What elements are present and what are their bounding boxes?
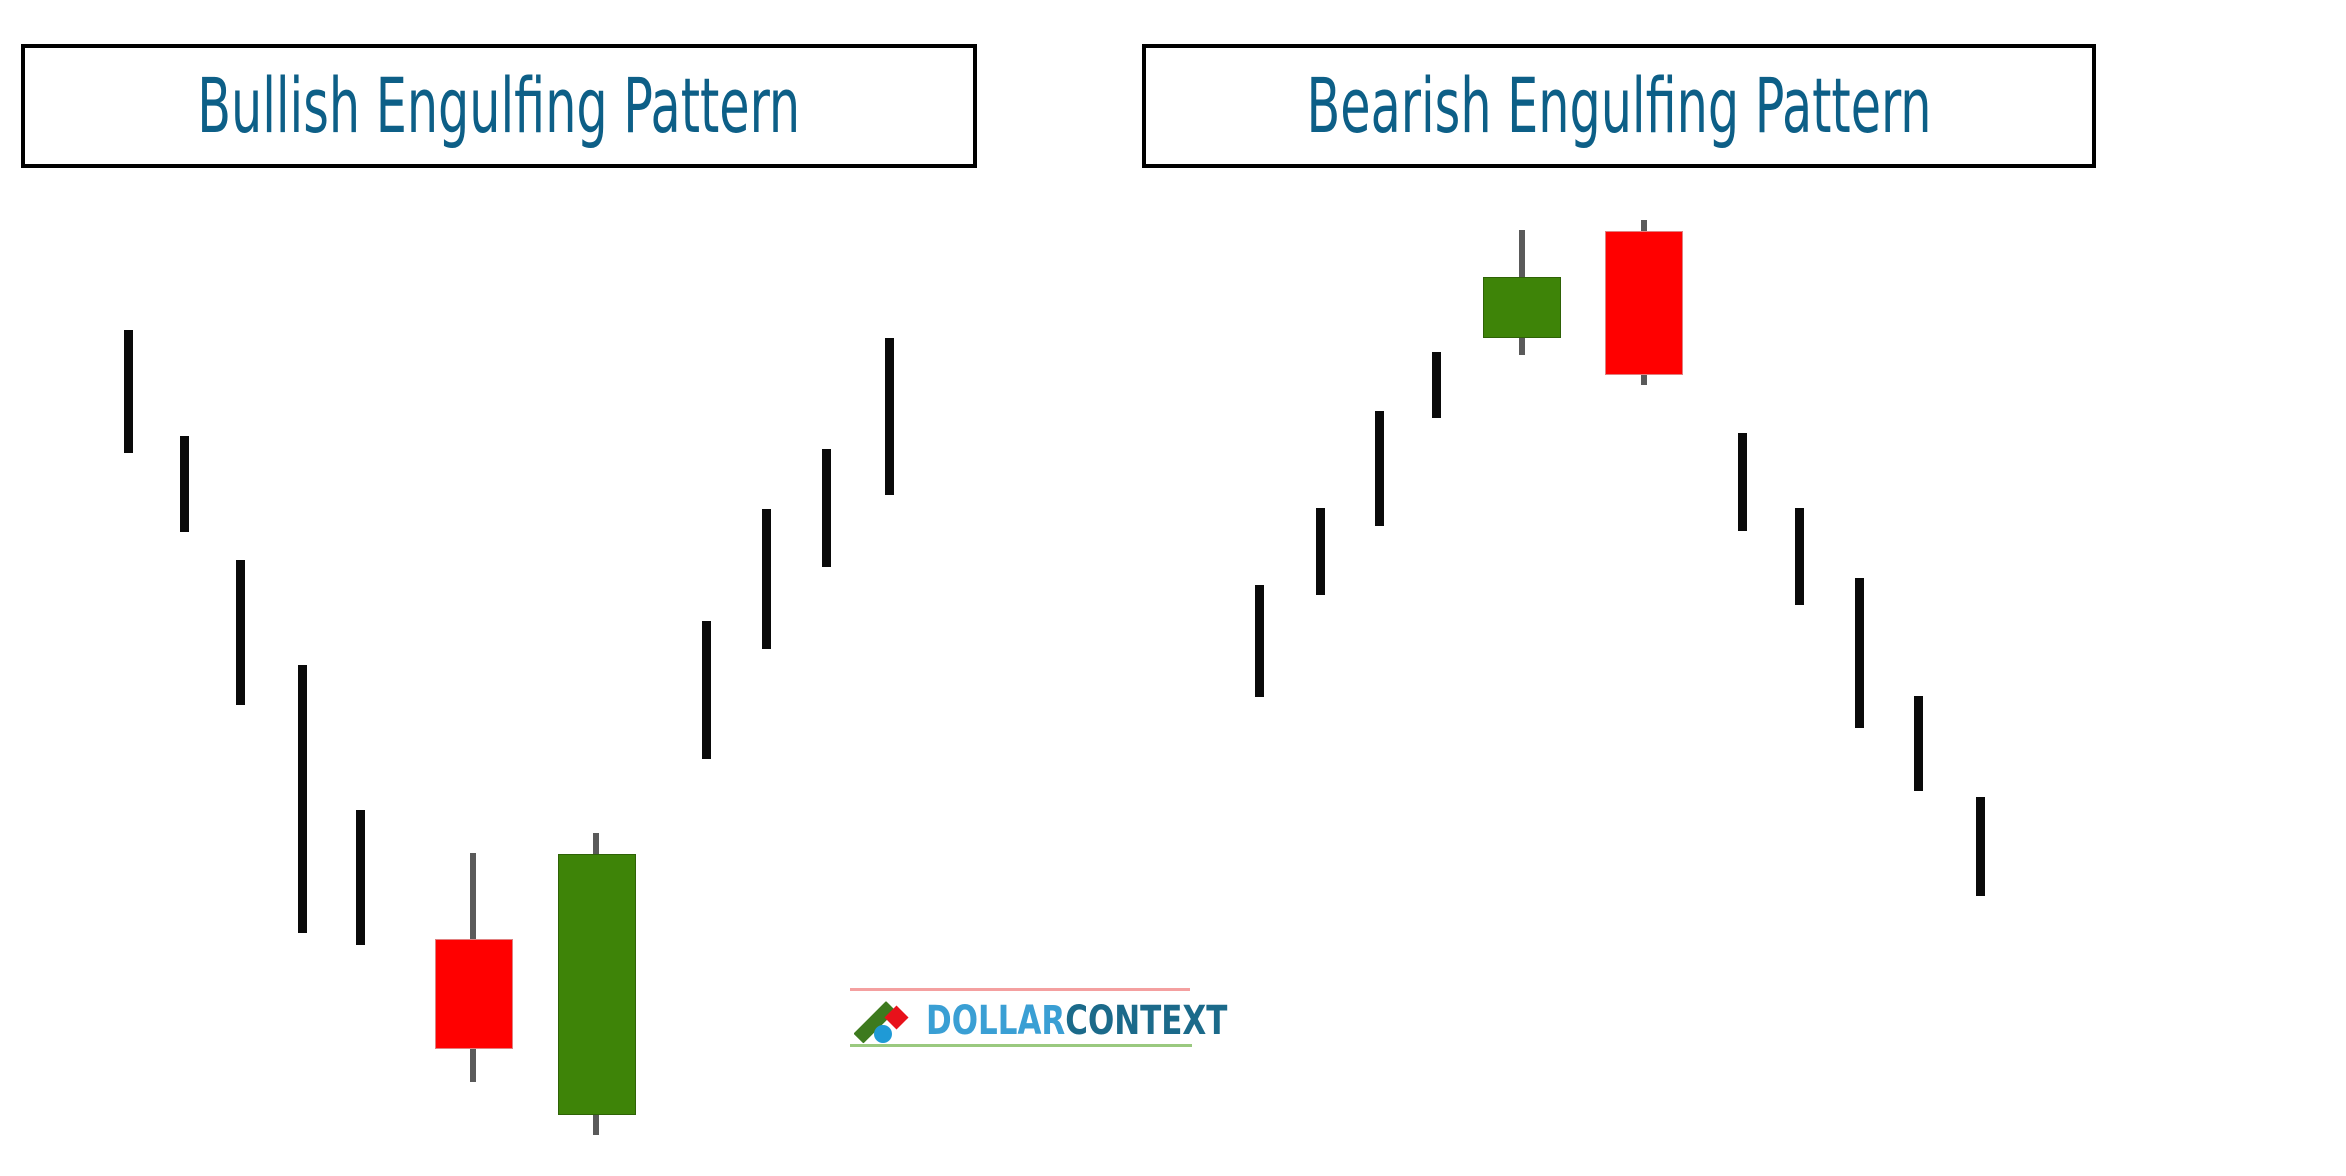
candle-body-bullish [1483,277,1561,338]
dollarcontext-watermark: DOLLARCONTEXT [848,988,1194,1050]
watermark-bottom-rule [850,1044,1192,1047]
candle-body-bearish [1605,231,1683,375]
watermark-word-dollar: DOLLAR [926,998,1065,1044]
watermark-word-context: CONTEXT [1065,998,1227,1044]
watermark-wordmark: DOLLARCONTEXT [926,998,1227,1044]
ohlc-range-bar [1976,797,1985,896]
ohlc-range-bar [1855,578,1864,728]
ohlc-range-bar [1316,508,1325,595]
ohlc-range-bar [1432,352,1441,418]
ohlc-range-bar [1795,508,1804,605]
dollarcontext-logo-icon [854,1000,912,1044]
ohlc-range-bar [1375,411,1384,526]
ohlc-range-bar [1914,696,1923,791]
watermark-top-rule [850,988,1190,991]
ohlc-range-bar [1255,585,1264,697]
ohlc-range-bar [1738,433,1747,531]
diagram-canvas: Bullish Engulfing Pattern Bearish Engulf… [0,0,2346,1176]
